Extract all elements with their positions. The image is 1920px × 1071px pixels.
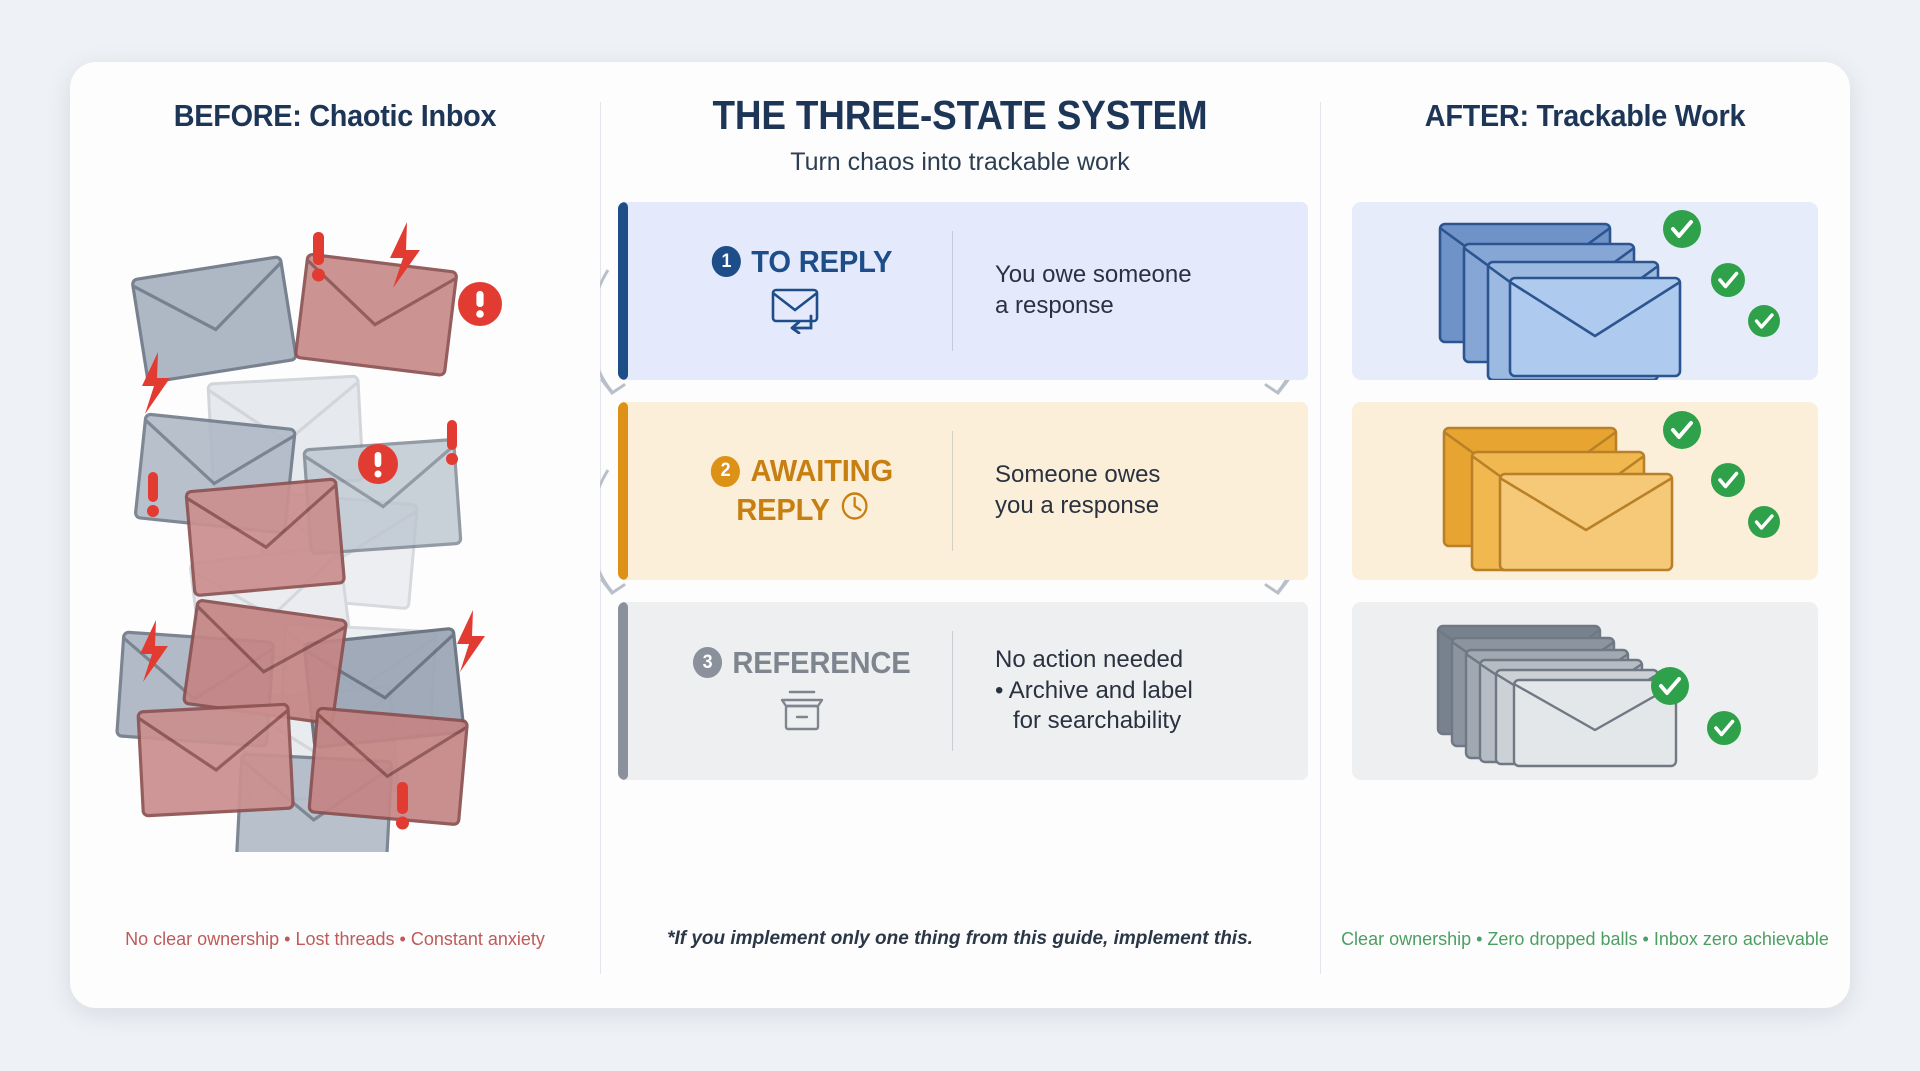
- state-label: TO REPLY: [751, 244, 892, 280]
- check-badge: [1748, 506, 1780, 538]
- accent-bar: [618, 402, 628, 580]
- state-label: REFERENCE: [733, 645, 911, 681]
- after-panel-reference: [1352, 602, 1818, 780]
- connector-arrow-1-to-2: [600, 270, 612, 392]
- state-number-badge: 2: [711, 456, 740, 487]
- state-description: You owe someone a response: [953, 260, 1308, 321]
- state-number-badge: 1: [712, 246, 741, 277]
- connector-arrow-2-to-3: [600, 470, 612, 592]
- desc-line: • Archive and label: [995, 676, 1308, 707]
- awaiting-reply-stack: [1352, 402, 1818, 580]
- check-badge: [1748, 305, 1780, 337]
- accent-bar: [618, 602, 628, 780]
- archive-box-icon: [774, 687, 830, 738]
- state-description: Someone owes you a response: [953, 460, 1308, 521]
- state-label-block: 2 AWAITING REPLY: [652, 402, 952, 580]
- state-label-block: 1 TO REPLY: [652, 202, 952, 380]
- exclamation-icon: [396, 782, 409, 830]
- exclamation-icon: [312, 232, 325, 282]
- to-reply-stack: [1352, 202, 1818, 380]
- alert-badge: [458, 282, 502, 326]
- state-label-line1: AWAITING: [750, 453, 893, 489]
- before-title: BEFORE: Chaotic Inbox: [89, 98, 582, 134]
- check-badge: [1663, 411, 1701, 449]
- desc-line: You owe someone: [995, 260, 1308, 291]
- before-footer: No clear ownership • Lost threads • Cons…: [70, 929, 600, 950]
- state-description: No action needed • Archive and label for…: [953, 645, 1308, 737]
- reference-stack: [1352, 602, 1818, 780]
- after-footer: Clear ownership • Zero dropped balls • I…: [1320, 929, 1850, 950]
- infographic-board: BEFORE: Chaotic Inbox: [70, 62, 1850, 1008]
- state-number-badge: 3: [693, 647, 722, 678]
- state-card-to-reply[interactable]: 1 TO REPLY You owe someone: [618, 202, 1308, 380]
- check-badge: [1711, 463, 1745, 497]
- system-column: THE THREE-STATE SYSTEM Turn chaos into t…: [600, 62, 1320, 1008]
- main-subtitle: Turn chaos into trackable work: [600, 148, 1320, 177]
- desc-line: you a response: [995, 491, 1308, 522]
- envelope-reply-icon: [771, 286, 833, 339]
- desc-line: a response: [995, 291, 1308, 322]
- state-card-awaiting-reply[interactable]: 2 AWAITING REPLY: [618, 402, 1308, 580]
- system-footnote: *If you implement only one thing from th…: [600, 928, 1320, 950]
- state-label-block: 3 REFERENCE: [652, 602, 952, 780]
- main-title: THE THREE-STATE SYSTEM: [636, 92, 1284, 139]
- after-panel-to-reply: [1352, 202, 1818, 380]
- after-title: AFTER: Trackable Work: [1339, 98, 1832, 134]
- state-label-line2: REPLY: [736, 492, 830, 528]
- alert-badge: [358, 444, 398, 484]
- desc-line: No action needed: [995, 645, 1308, 676]
- chaotic-inbox-illustration: [90, 192, 580, 852]
- after-column: AFTER: Trackable Work: [1320, 62, 1850, 1008]
- desc-line: Someone owes: [995, 460, 1308, 491]
- accent-bar: [618, 202, 628, 380]
- before-column: BEFORE: Chaotic Inbox: [70, 62, 600, 1008]
- check-badge: [1707, 711, 1741, 745]
- state-cards: 1 TO REPLY You owe someone: [618, 202, 1308, 802]
- lightning-icon: [457, 610, 485, 672]
- check-badge: [1651, 667, 1689, 705]
- check-badge: [1663, 210, 1701, 248]
- check-badge: [1711, 263, 1745, 297]
- exclamation-icon: [147, 472, 159, 517]
- exclamation-icon: [446, 420, 458, 465]
- after-panel-awaiting-reply: [1352, 402, 1818, 580]
- state-card-reference[interactable]: 3 REFERENCE No action needed: [618, 602, 1308, 780]
- desc-line: for searchability: [995, 706, 1308, 737]
- clock-icon: [840, 491, 868, 529]
